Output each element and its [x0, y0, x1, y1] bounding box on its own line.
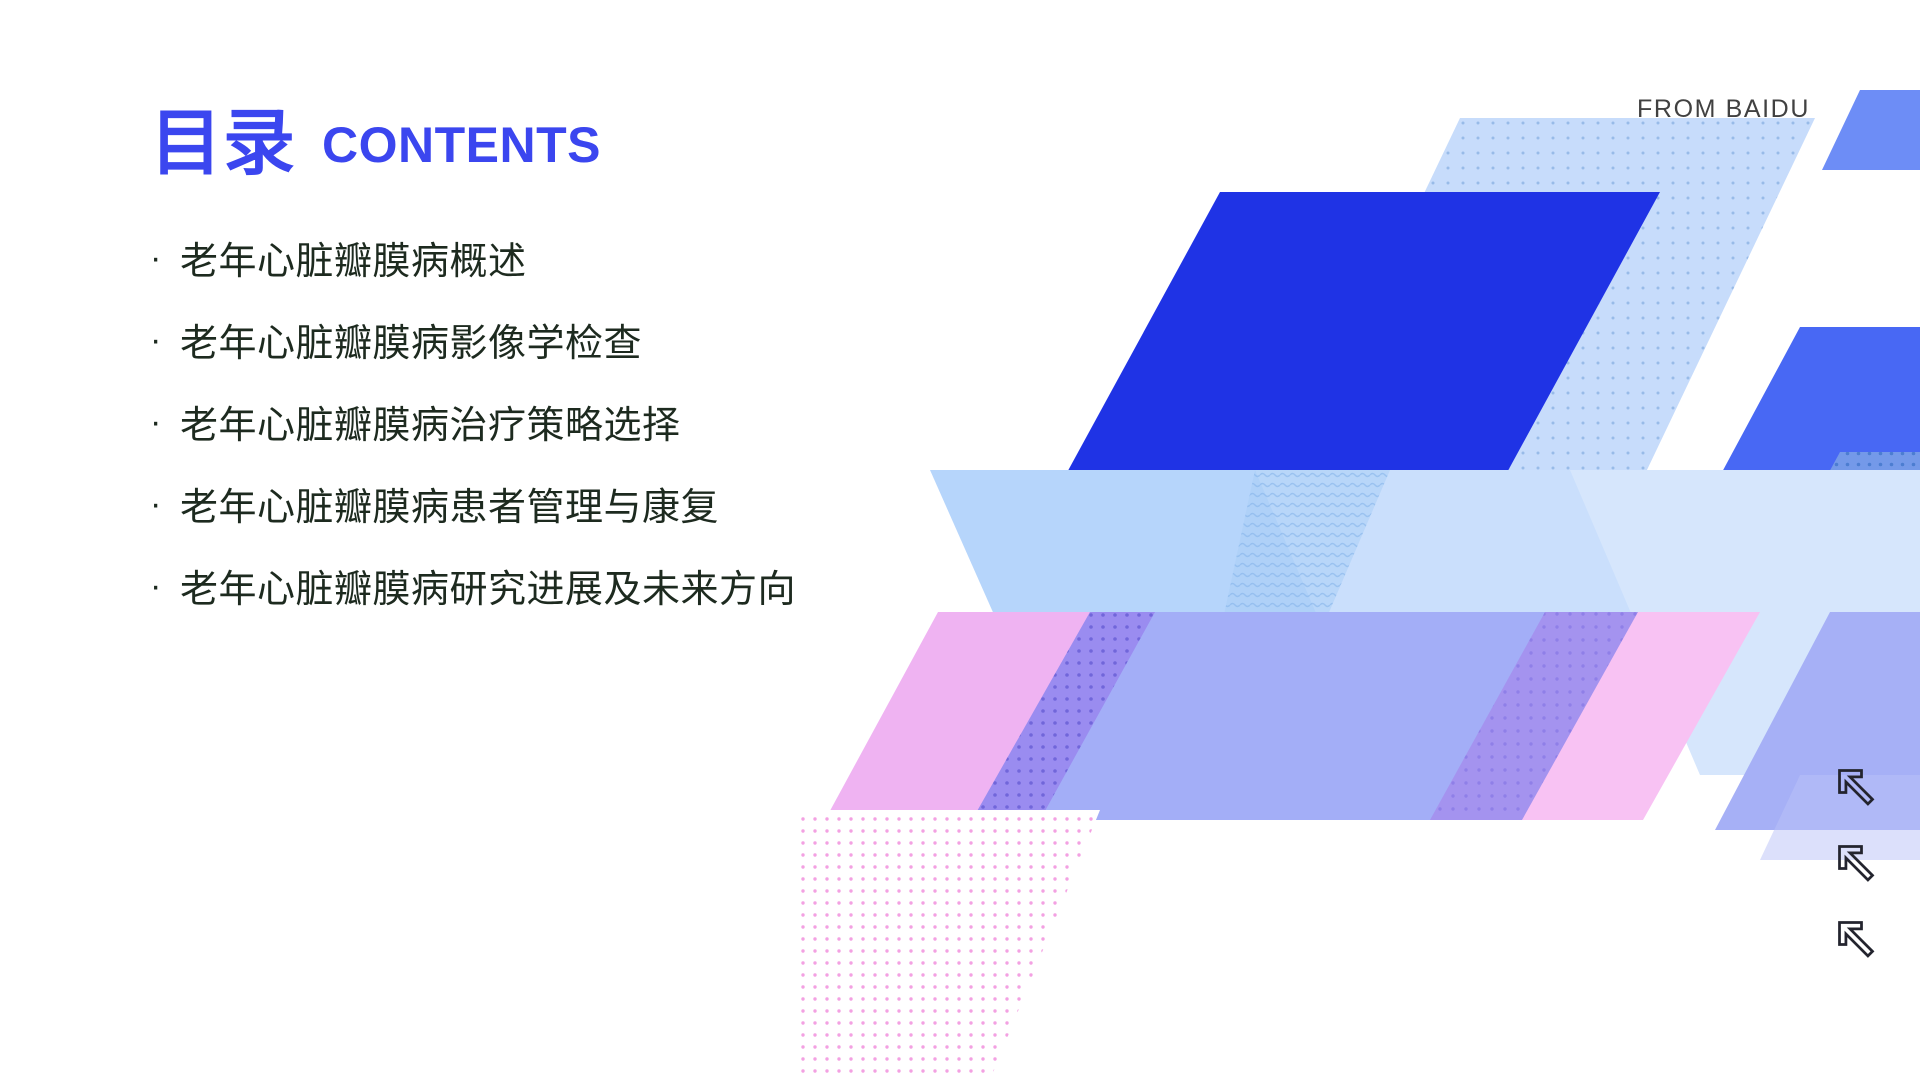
list-item[interactable]: · 老年心脏瓣膜病治疗策略选择 — [150, 396, 970, 456]
page-title-en: CONTENTS — [322, 120, 601, 170]
list-item[interactable]: · 老年心脏瓣膜病影像学检查 — [150, 314, 970, 374]
arrow-icon-stack — [1834, 765, 1878, 961]
list-item-label: 老年心脏瓣膜病患者管理与康复 — [180, 478, 820, 538]
list-item[interactable]: · 老年心脏瓣膜病患者管理与康复 — [150, 478, 970, 538]
list-item-label: 老年心脏瓣膜病概述 — [180, 232, 820, 292]
list-item[interactable]: · 老年心脏瓣膜病研究进展及未来方向 — [150, 560, 970, 620]
list-item-label: 老年心脏瓣膜病研究进展及未来方向 — [180, 560, 820, 620]
list-item-label: 老年心脏瓣膜病治疗策略选择 — [180, 396, 820, 456]
page-title: 目录 CONTENTS — [150, 108, 970, 180]
shape-corner-sliver — [1822, 90, 1920, 170]
arrow-up-left-icon[interactable] — [1834, 841, 1878, 885]
bullet-icon: · — [150, 232, 180, 286]
table-of-contents-list: · 老年心脏瓣膜病概述 · 老年心脏瓣膜病影像学检查 · 老年心脏瓣膜病治疗策略… — [150, 232, 970, 620]
list-item[interactable]: · 老年心脏瓣膜病概述 — [150, 232, 970, 292]
source-label: FROM BAIDU — [1637, 95, 1810, 124]
page-title-cn: 目录 — [150, 108, 296, 180]
bullet-icon: · — [150, 478, 180, 532]
shape-pink-dotted-parallelogram — [800, 810, 1100, 1080]
arrow-up-left-icon[interactable] — [1834, 917, 1878, 961]
bullet-icon: · — [150, 396, 180, 450]
bullet-icon: · — [150, 560, 180, 614]
content-column: 目录 CONTENTS · 老年心脏瓣膜病概述 · 老年心脏瓣膜病影像学检查 ·… — [150, 108, 970, 642]
bullet-icon: · — [150, 314, 180, 368]
slide-canvas: FROM BAIDU 目录 CONTENTS · 老年心脏瓣膜病概述 · 老年心… — [0, 0, 1920, 1080]
list-item-label: 老年心脏瓣膜病影像学检查 — [180, 314, 820, 374]
arrow-up-left-icon[interactable] — [1834, 765, 1878, 809]
